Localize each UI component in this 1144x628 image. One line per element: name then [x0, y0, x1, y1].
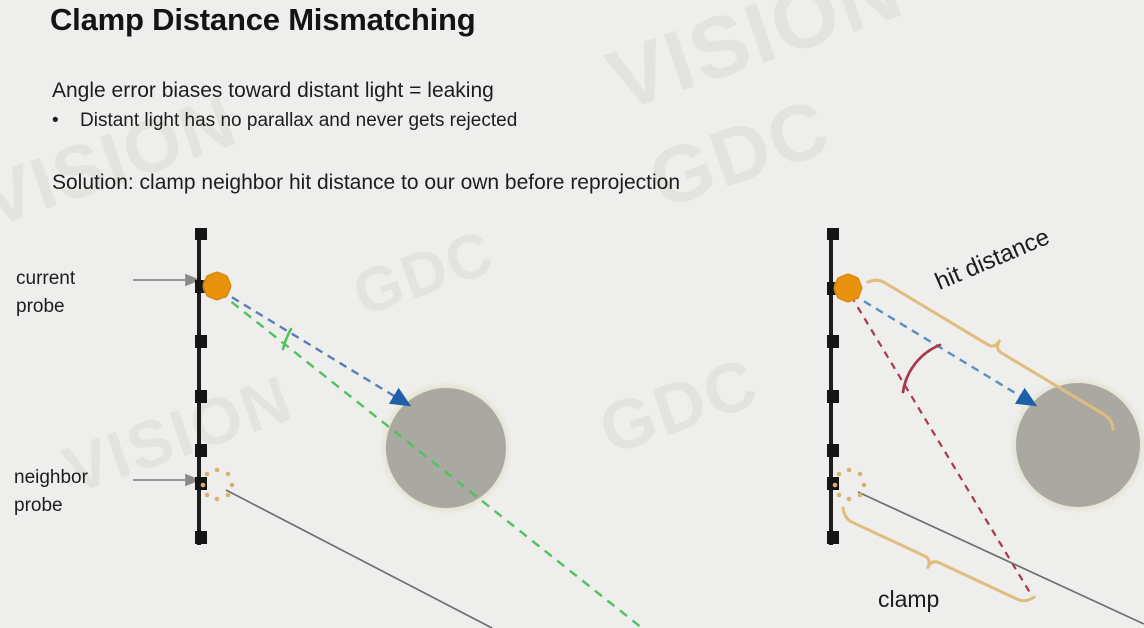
blocker-circle-left	[386, 388, 506, 508]
slide-canvas: VISION GDC VISION GDC VISION GDC Clamp D…	[0, 0, 1144, 628]
label-neighbor-probe: neighbor probe	[14, 464, 88, 519]
label-neighbor-probe-line1: neighbor	[14, 464, 88, 492]
ray-blue-current-hit	[220, 290, 404, 402]
right-panel-group	[827, 228, 1144, 624]
angle-arc-right	[903, 345, 940, 392]
label-current-probe-line2: probe	[16, 293, 75, 321]
left-panel-group	[133, 228, 642, 628]
ray-blue-hit-distance	[852, 294, 1030, 402]
ray-red-clamped-direction	[851, 296, 1032, 596]
label-neighbor-probe-line2: probe	[14, 492, 88, 520]
blocker-circle-right	[1016, 383, 1140, 507]
current-probe-marker-right[interactable]	[834, 274, 863, 303]
diagram-figure	[0, 0, 1144, 628]
label-current-probe: current probe	[16, 265, 75, 320]
label-current-probe-line1: current	[16, 265, 75, 293]
current-probe-marker-left[interactable]	[203, 272, 232, 301]
label-clamp: clamp	[878, 583, 939, 616]
